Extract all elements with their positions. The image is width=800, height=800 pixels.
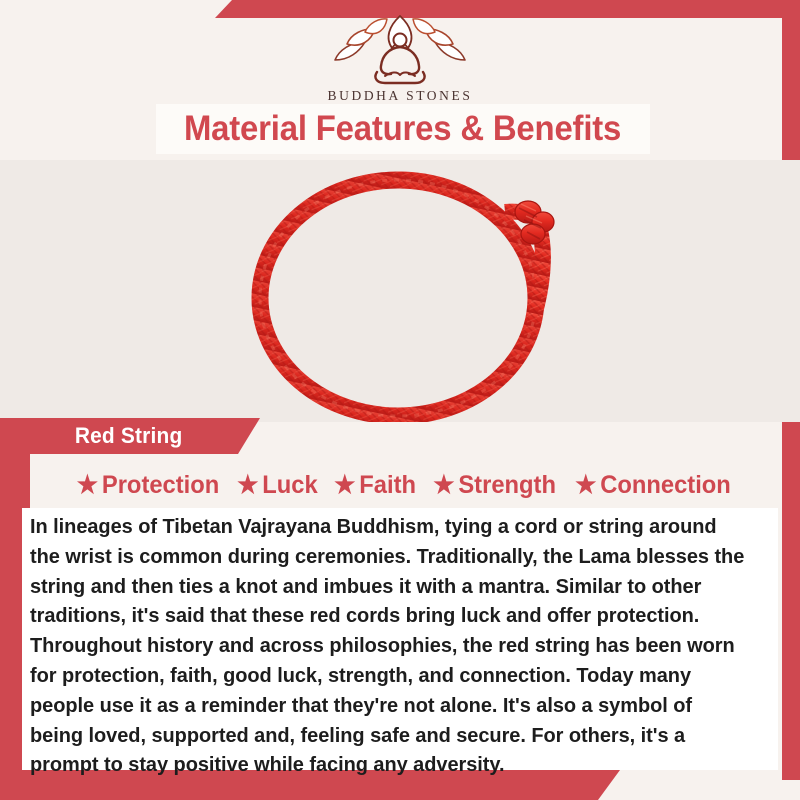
star-icon: ★ <box>237 473 258 498</box>
benefits-list: ★ Protection ★ Luck ★ Faith ★ Strength ★… <box>30 465 778 505</box>
benefit-label: Connection <box>600 471 731 500</box>
red-string-bracelet-image <box>0 160 800 422</box>
product-photo <box>0 160 800 422</box>
infographic-canvas: BUDDHA STONES Material Features & Benefi… <box>0 0 800 800</box>
benefit-label: Protection <box>102 471 219 500</box>
page-title: Material Features & Benefits <box>184 109 621 149</box>
benefit-item-faith: ★ Faith <box>334 471 416 500</box>
benefit-label: Luck <box>262 471 317 500</box>
benefit-item-connection: ★ Connection <box>575 471 731 500</box>
brand-wordmark: BUDDHA STONES <box>0 88 800 104</box>
benefit-label: Faith <box>359 471 416 500</box>
title-banner: Material Features & Benefits <box>156 104 650 154</box>
brand-logo: BUDDHA STONES <box>0 14 800 104</box>
product-name: Red String <box>75 423 183 449</box>
star-icon: ★ <box>575 473 596 498</box>
product-name-banner: Red String <box>0 418 260 454</box>
description-text: In lineages of Tibetan Vajrayana Buddhis… <box>30 512 748 780</box>
benefit-item-protection: ★ Protection <box>77 471 220 500</box>
benefit-item-luck: ★ Luck <box>237 471 318 500</box>
description-panel: In lineages of Tibetan Vajrayana Buddhis… <box>22 508 778 770</box>
star-icon: ★ <box>77 473 98 498</box>
benefit-item-strength: ★ Strength <box>433 471 556 500</box>
star-icon: ★ <box>433 473 454 498</box>
lotus-meditation-icon <box>325 14 475 86</box>
star-icon: ★ <box>334 473 355 498</box>
benefit-label: Strength <box>458 471 556 500</box>
